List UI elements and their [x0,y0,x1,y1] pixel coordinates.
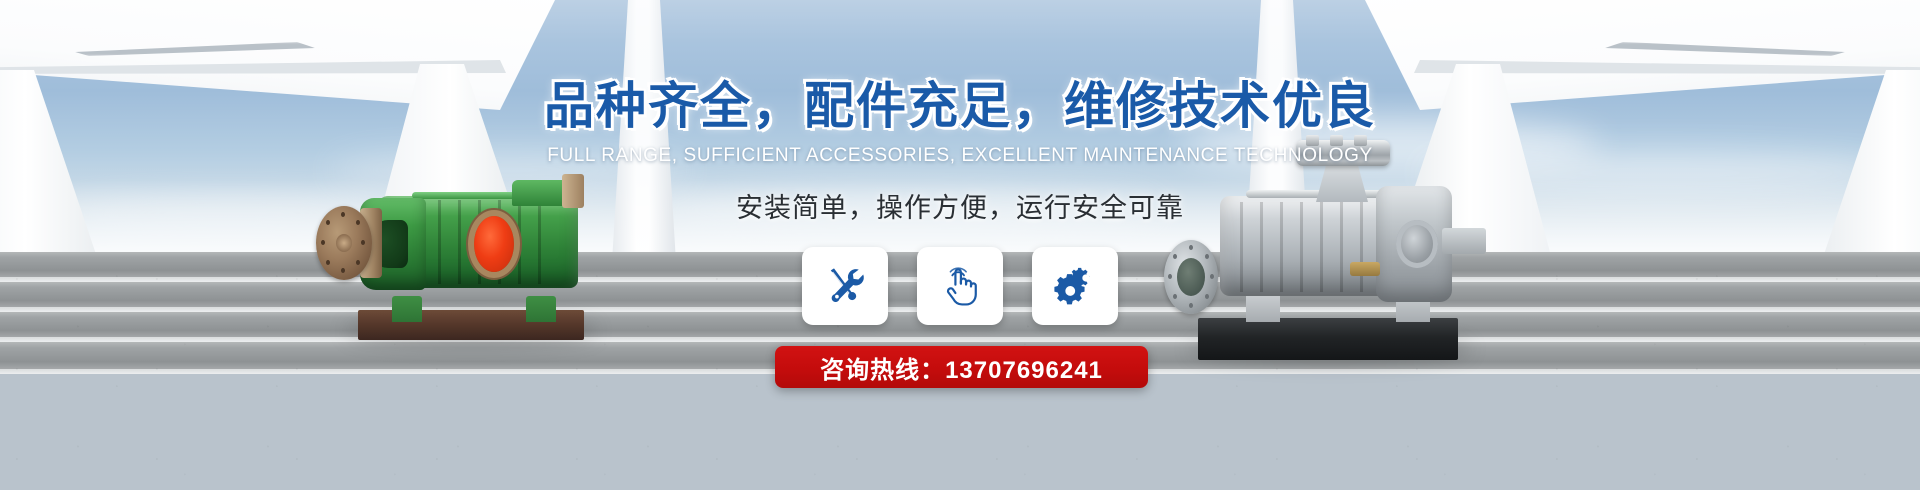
page-title: 品种齐全，配件充足，维修技术优良 [0,66,1920,138]
subtitle-chinese: 安装简单，操作方便，运行安全可靠 [0,186,1920,225]
tools-wrench-screwdriver-icon [823,264,867,308]
promo-banner: 品种齐全，配件充足，维修技术优良 FULL RANGE, SUFFICIENT … [0,0,1920,490]
feature-card-easy-operation[interactable] [917,247,1003,325]
feature-card-maintenance[interactable] [802,247,888,325]
feature-card-reliable-running[interactable] [1032,247,1118,325]
pointing-hand-click-icon [940,264,980,308]
subtitle-english: FULL RANGE, SUFFICIENT ACCESSORIES, EXCE… [0,145,1920,167]
gears-icon [1053,265,1097,307]
feature-icon-row [0,247,1920,325]
hotline-text: 咨询热线：13707696241 [820,350,1103,385]
hotline-button[interactable]: 咨询热线：13707696241 [775,346,1148,388]
